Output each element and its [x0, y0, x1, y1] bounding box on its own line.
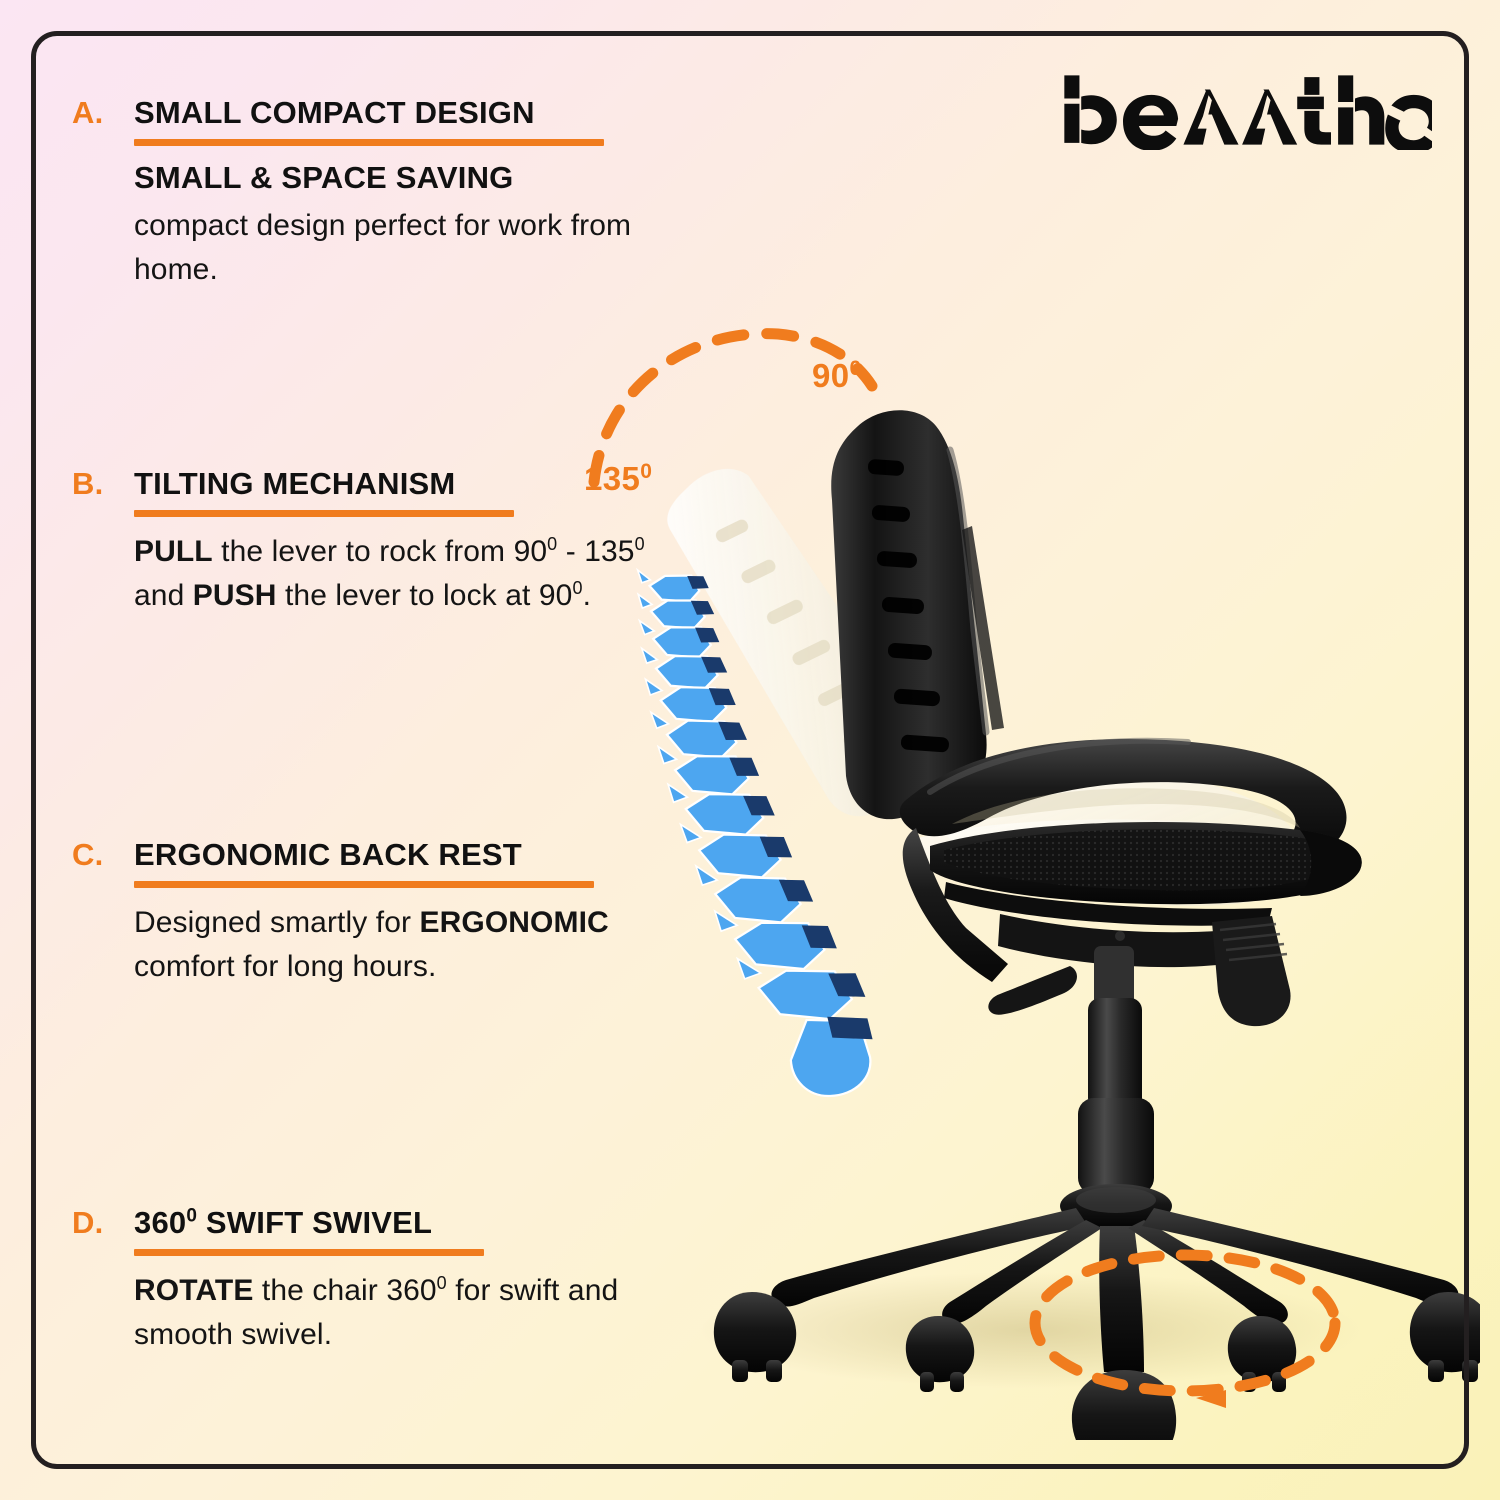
swivel-rotation-ellipse [1020, 1238, 1350, 1408]
feature-b-letter: B. [72, 467, 134, 500]
feature-b-body: PULL the lever to rock from 900 - 1350 a… [134, 530, 692, 617]
feature-d-heading-row: D. 3600 SWIFT SWIVEL [72, 1206, 692, 1256]
feature-d-title: 3600 SWIFT SWIVEL [134, 1206, 692, 1239]
angle-label-90: 900 [812, 357, 862, 395]
tension-knob [1212, 916, 1291, 1026]
feature-d-underline [134, 1249, 484, 1256]
feature-b-underline [134, 510, 514, 517]
feature-c-underline [134, 881, 594, 888]
gas-lift [1074, 946, 1158, 1207]
feature-d-letter: D. [72, 1206, 134, 1239]
feature-block-c: C. ERGONOMIC BACK REST Designed smartly … [72, 838, 692, 988]
feature-a-underline [134, 139, 604, 146]
feature-c-body: Designed smartly for ERGONOMIC comfort f… [134, 901, 692, 988]
chair-seat [930, 822, 1362, 926]
infographic-canvas: 1350 900 [0, 0, 1500, 1500]
angle-label-135: 1350 [584, 460, 652, 498]
brand-logo [1059, 70, 1432, 150]
feature-a-subtitle: SMALL & SPACE SAVING [134, 160, 692, 196]
feature-a-title: SMALL COMPACT DESIGN [134, 96, 692, 129]
feature-a-body: compact design perfect for work from hom… [134, 204, 692, 291]
feature-block-d: D. 3600 SWIFT SWIVEL ROTATE the chair 36… [72, 1206, 692, 1356]
feature-d-body: ROTATE the chair 3600 for swift and smoo… [134, 1269, 692, 1356]
tilt-lever [988, 966, 1077, 1015]
feature-c-heading-row: C. ERGONOMIC BACK REST [72, 838, 692, 888]
feature-a-heading-row: A. SMALL COMPACT DESIGN [72, 96, 692, 146]
feature-c-title: ERGONOMIC BACK REST [134, 838, 692, 871]
feature-c-letter: C. [72, 838, 134, 871]
feature-block-a: A. SMALL COMPACT DESIGN SMALL & SPACE SA… [72, 96, 692, 291]
feature-a-letter: A. [72, 96, 134, 129]
